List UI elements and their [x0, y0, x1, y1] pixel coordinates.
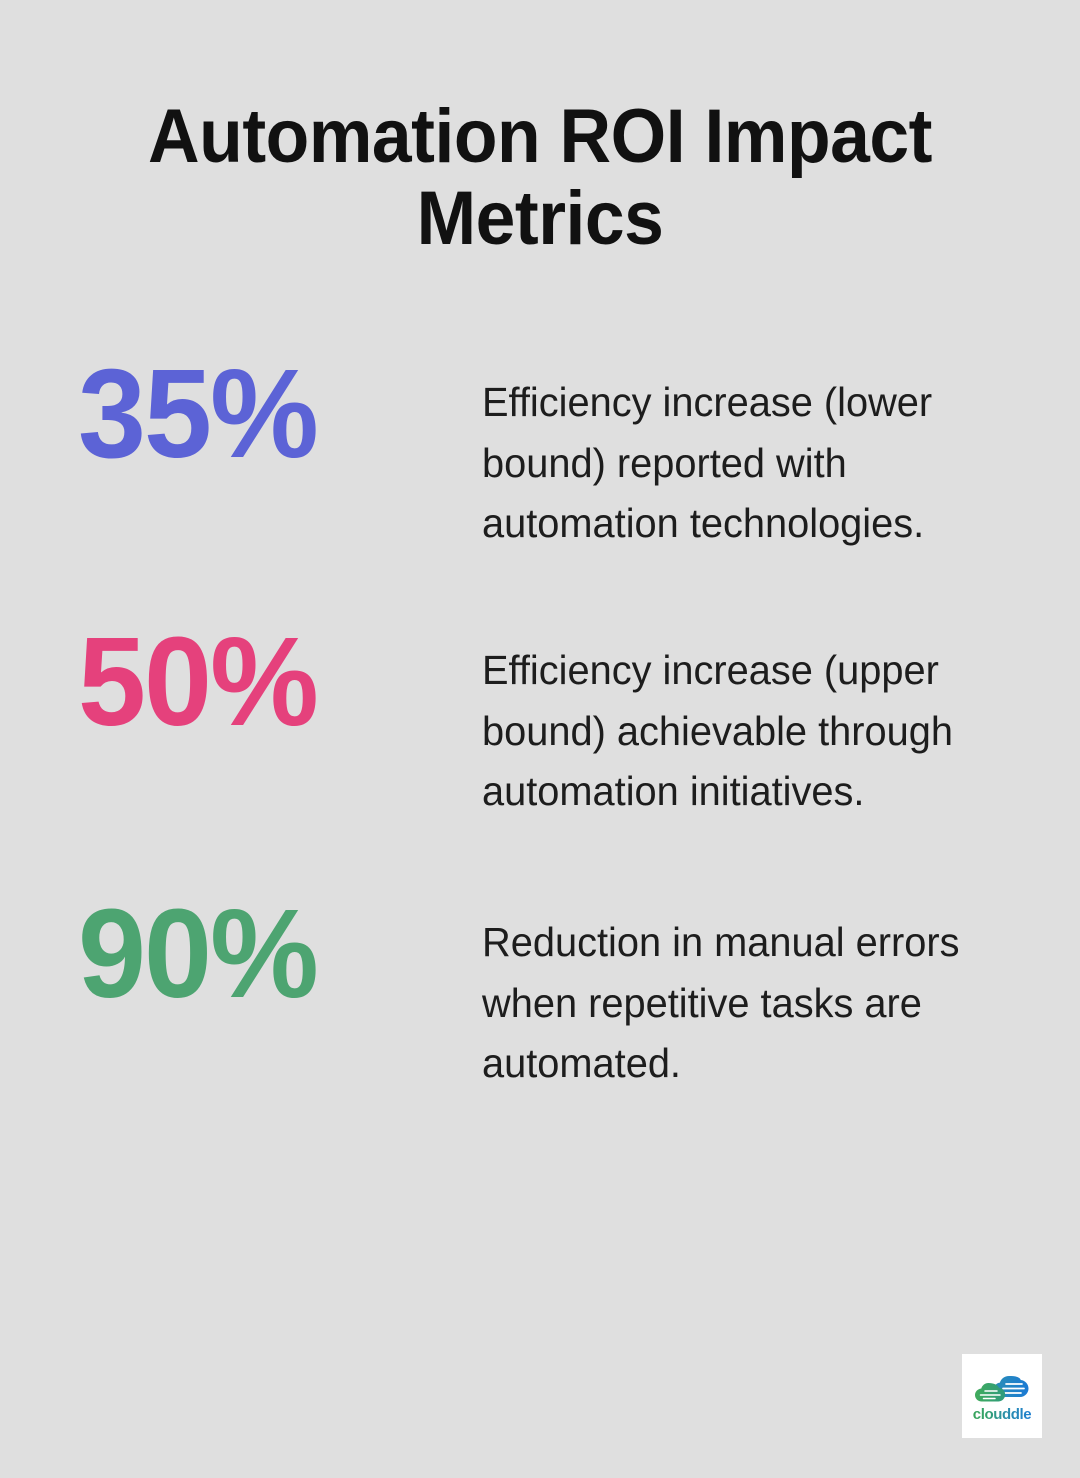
- page-title: Automation ROI Impact Metrics: [100, 96, 980, 260]
- stat-value-3: 90%: [78, 890, 470, 1019]
- stat-value-1: 35%: [78, 350, 470, 479]
- stat-description-3: Reduction in manual errors when repetiti…: [482, 906, 1023, 1094]
- brand-logo: clouddle: [962, 1354, 1042, 1438]
- stats-list: 35% Efficiency increase (lower bound) re…: [0, 366, 1080, 1094]
- stat-row: 90% Reduction in manual errors when repe…: [0, 906, 1080, 1094]
- stat-description-2: Efficiency increase (upper bound) achiev…: [482, 634, 1023, 822]
- stat-value-2: 50%: [78, 618, 470, 747]
- stat-row: 35% Efficiency increase (lower bound) re…: [0, 366, 1080, 554]
- stat-row: 50% Efficiency increase (upper bound) ac…: [0, 634, 1080, 822]
- infographic-poster: Automation ROI Impact Metrics 35% Effici…: [0, 0, 1080, 1478]
- logo-wordmark: clouddle: [973, 1407, 1031, 1422]
- double-cloud-icon: [974, 1371, 1030, 1405]
- stat-description-1: Efficiency increase (lower bound) report…: [482, 366, 1023, 554]
- title-block: Automation ROI Impact Metrics: [72, 96, 1008, 260]
